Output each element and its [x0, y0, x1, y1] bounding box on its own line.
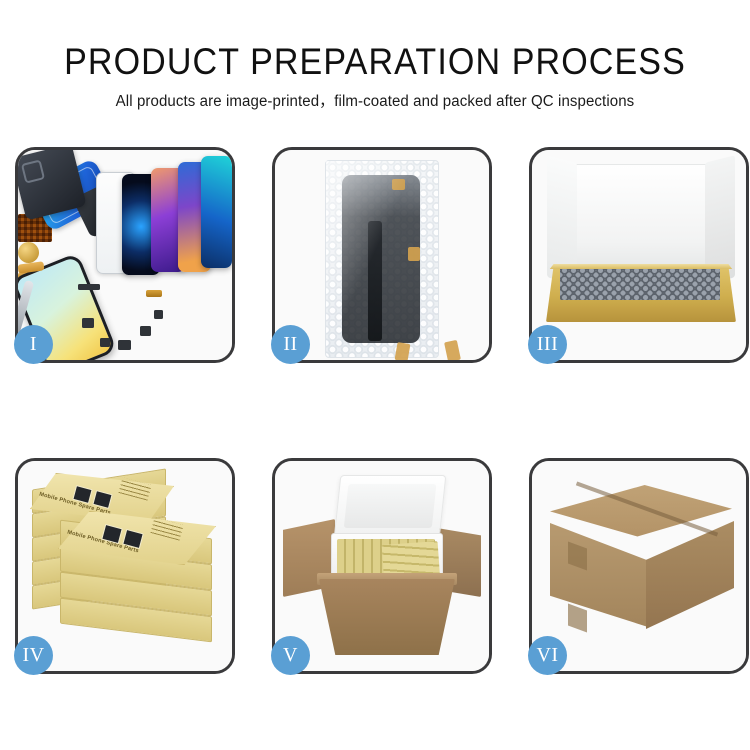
process-step-panel-5[interactable]: V: [272, 458, 492, 674]
step-3-image: [532, 150, 746, 360]
product-preparation-process-page: PRODUCT PREPARATION PROCESS All products…: [0, 0, 750, 750]
page-subtitle: All products are image-printed，film-coat…: [11, 82, 739, 111]
process-step-grid: I II: [0, 145, 750, 685]
vibration-motor-icon: [18, 242, 39, 263]
step-1-image: [18, 150, 232, 360]
process-step-panel-2[interactable]: II: [272, 147, 492, 363]
header: PRODUCT PREPARATION PROCESS All products…: [0, 0, 750, 111]
sealed-carton-side-icon: [646, 521, 734, 629]
bubble-wrap-bag-icon: [325, 160, 439, 358]
step-badge-6: VI: [528, 636, 567, 675]
small-part-2-icon: [82, 318, 94, 328]
carton-body-icon: [319, 579, 455, 655]
bubble-wrap-gloss: [326, 161, 438, 357]
kraft-box-lip-icon: [546, 264, 736, 269]
tape-piece-4-icon: [444, 340, 461, 360]
step-badge-4: IV: [14, 636, 53, 675]
small-part-4-icon: [118, 340, 131, 350]
gold-connector-icon: [146, 290, 162, 297]
process-step-panel-3[interactable]: III: [529, 147, 749, 363]
step-5-image: [275, 461, 489, 671]
small-part-3-icon: [100, 338, 110, 347]
bubble-wrap-filler-icon: [560, 266, 720, 300]
process-step-panel-6[interactable]: VI: [529, 458, 749, 674]
step-2-image: [275, 150, 489, 360]
step-badge-2: II: [271, 325, 310, 364]
foam-lid-open-icon: [334, 475, 447, 539]
sealed-carton-front-icon: [550, 523, 648, 627]
step-badge-1: I: [14, 325, 53, 364]
process-step-panel-1[interactable]: I: [15, 147, 235, 363]
phone-display-4-icon: [201, 156, 232, 268]
step-6-image: [532, 461, 746, 671]
small-part-5-icon: [140, 326, 151, 336]
small-part-1-icon: [78, 284, 100, 290]
carton-tape-2-icon: [568, 604, 587, 633]
small-part-6-icon: [154, 310, 163, 319]
step-badge-3: III: [528, 325, 567, 364]
step-badge-5: V: [271, 636, 310, 675]
retail-box-stack-icon: Mobile Phone Spare Parts Mobile Phone Sp…: [24, 467, 230, 669]
page-title: PRODUCT PREPARATION PROCESS: [30, 0, 720, 82]
white-foam-lid-icon: [556, 164, 726, 276]
process-step-panel-4[interactable]: Mobile Phone Spare Parts Mobile Phone Sp…: [15, 458, 235, 674]
step-4-image: Mobile Phone Spare Parts Mobile Phone Sp…: [18, 461, 232, 671]
